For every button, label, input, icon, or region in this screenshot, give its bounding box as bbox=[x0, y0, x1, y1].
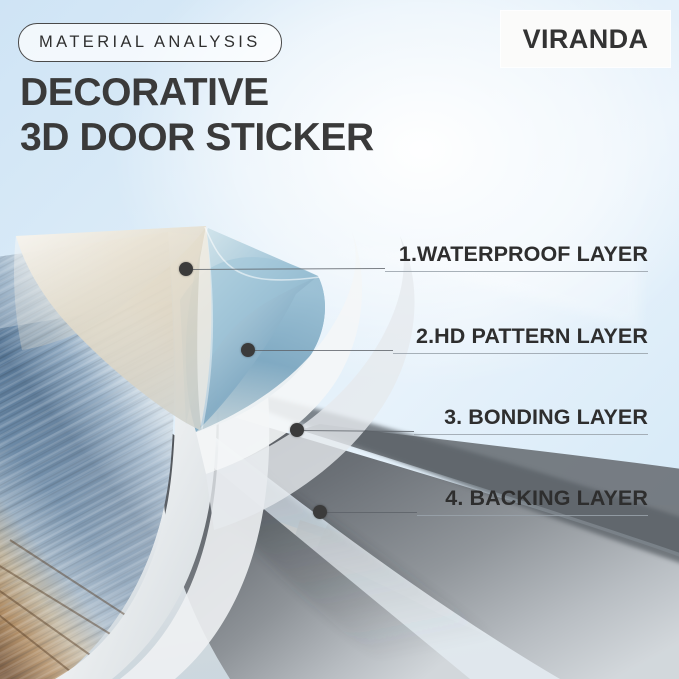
callout-dot-3 bbox=[290, 423, 304, 437]
leader-line-4 bbox=[326, 512, 417, 513]
callout-1: 1.WATERPROOF LAYER bbox=[385, 242, 648, 272]
callout-dot-1 bbox=[179, 262, 193, 276]
callout-label-3: 3. BONDING LAYER bbox=[414, 405, 648, 430]
poster-canvas: MATERIAL ANALYSIS DECORATIVE 3D DOOR STI… bbox=[0, 0, 679, 679]
callout-label-2: 2.HD PATTERN LAYER bbox=[393, 324, 648, 349]
callout-4: 4. BACKING LAYER bbox=[417, 486, 648, 516]
callout-dot-2 bbox=[241, 343, 255, 357]
page-title: DECORATIVE 3D DOOR STICKER bbox=[20, 70, 374, 160]
callout-underline-4 bbox=[417, 515, 648, 516]
badge-label: MATERIAL ANALYSIS bbox=[39, 33, 261, 52]
callout-label-4: 4. BACKING LAYER bbox=[417, 486, 648, 511]
title-line-1: DECORATIVE bbox=[20, 71, 269, 114]
callout-underline-3 bbox=[414, 434, 648, 435]
leader-line-2 bbox=[254, 350, 393, 351]
callout-2: 2.HD PATTERN LAYER bbox=[393, 324, 648, 354]
material-analysis-badge: MATERIAL ANALYSIS bbox=[18, 23, 282, 62]
brand-logo: VIRANDA bbox=[501, 11, 670, 67]
callout-label-1: 1.WATERPROOF LAYER bbox=[385, 242, 648, 267]
callout-dot-4 bbox=[313, 505, 327, 519]
brand-name: VIRANDA bbox=[523, 24, 649, 55]
callout-underline-2 bbox=[393, 353, 648, 354]
callout-3: 3. BONDING LAYER bbox=[414, 405, 648, 435]
title-line-2: 3D DOOR STICKER bbox=[20, 115, 374, 160]
callout-underline-1 bbox=[385, 271, 648, 272]
